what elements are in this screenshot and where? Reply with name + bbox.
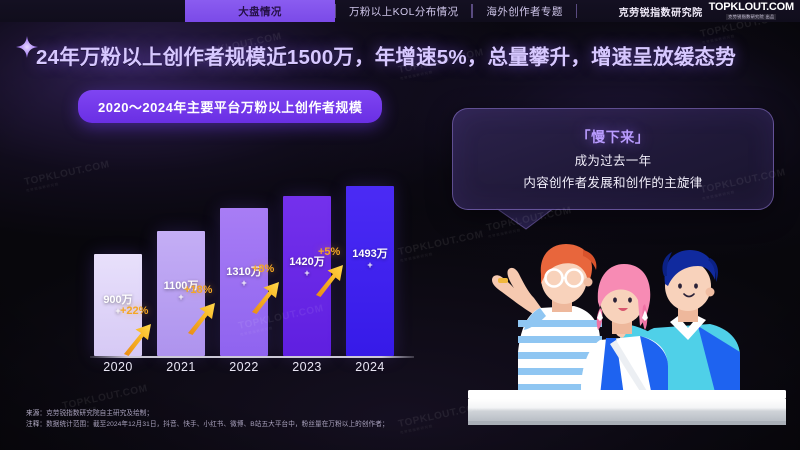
bar-value-2024: 1493万 <box>352 248 387 260</box>
nav-left-spacer <box>0 0 185 22</box>
growth-label-2022: +18% <box>184 284 212 296</box>
bar-2024: 1493万 + <box>346 186 394 356</box>
nav-tab-overseas-creators-label: 海外创作者专题 <box>486 4 562 19</box>
callout-tail <box>496 208 554 230</box>
top-navigation-bar: 大盘情况 万粉以上KOL分布情况 海外创作者专题 克劳锐指数研究院 TOPKLO… <box>0 0 800 22</box>
nav-tab-overview-label: 大盘情况 <box>238 4 282 19</box>
chart-title-pill: 2020～2024年主要平台万粉以上创作者规模 <box>78 90 382 123</box>
x-label-2021: 2021 <box>151 360 211 374</box>
insight-callout-bubble: 「慢下来」 成为过去一年 内容创作者发展和创作的主旋律 <box>452 108 774 210</box>
x-label-2024: 2024 <box>340 360 400 374</box>
brand-name-cn: 克劳锐指数研究院 <box>619 4 703 19</box>
footer-note-line: 注释：数据统计范围：截至2024年12月31日，抖音、快手、小红书、微博、B站五… <box>26 420 389 431</box>
x-label-2023: 2023 <box>277 360 337 374</box>
footer-notes: 来源：克劳锐指数研究院自主研究及绘制； 注释：数据统计范围：截至2024年12月… <box>26 409 389 430</box>
nav-tab-kol-distribution-label: 万粉以上KOL分布情况 <box>349 4 458 19</box>
nav-tab-kol-distribution[interactable]: 万粉以上KOL分布情况 <box>335 0 472 22</box>
bar-suffix-2024: + <box>346 260 394 270</box>
callout-line-2: 内容创作者发展和创作的主旋律 <box>523 172 702 191</box>
bar-column-2024[interactable]: 1493万 + <box>346 186 394 356</box>
bar-chart: 900万 + 1100万 + 1310万 + <box>80 130 420 380</box>
growth-label-2021: +22% <box>120 305 148 317</box>
creators-illustration <box>440 200 800 450</box>
growth-arrow-icon-2024 <box>314 263 344 297</box>
footer-source-text: 克劳锐指数研究院自主研究及绘制； <box>46 410 153 417</box>
brand-domain: TOPKLOUT.COM <box>709 2 794 13</box>
callout-highlight: 「慢下来」 <box>577 127 650 147</box>
watermark-text: TOPKLOUT.COM <box>61 383 148 412</box>
brand-name-en: TOPKLOUT.COM 克劳锐指数研究院 出品 <box>709 2 794 20</box>
footer-note-text: 数据统计范围：截至2024年12月31日，抖音、快手、小红书、微博、B站五大平台… <box>46 421 389 428</box>
chart-x-axis <box>90 356 414 358</box>
growth-label-2024: +5% <box>318 246 340 258</box>
growth-label-2023: +8% <box>252 263 274 275</box>
page-title: 24年万粉以上创作者规模近1500万，年增速5%，总量攀升，增速呈放缓态势 <box>36 40 736 70</box>
slide-canvas: 大盘情况 万粉以上KOL分布情况 海外创作者专题 克劳锐指数研究院 TOPKLO… <box>0 0 800 450</box>
footer-source-label: 来源： <box>26 410 46 417</box>
footer-note-label: 注释： <box>26 421 46 428</box>
sparkle-icon <box>16 36 38 58</box>
brand-domain-sub: 克劳锐指数研究院 出品 <box>726 14 776 20</box>
x-label-2020: 2020 <box>88 360 148 374</box>
growth-arrow-icon-2021 <box>122 322 152 356</box>
callout-line-1: 成为过去一年 <box>575 150 652 169</box>
nav-tab-overseas-creators[interactable]: 海外创作者专题 <box>472 0 576 22</box>
chart-x-tick-labels: 2020 2021 2022 2023 2024 <box>80 360 420 380</box>
x-label-2022: 2022 <box>214 360 274 374</box>
growth-arrow-icon-2023 <box>250 280 280 314</box>
brand-logo: 克劳锐指数研究院 TOPKLOUT.COM 克劳锐指数研究院 出品 <box>619 0 800 22</box>
growth-arrow-icon-2022 <box>186 301 216 335</box>
nav-tab-overview[interactable]: 大盘情况 <box>185 0 335 22</box>
counter-desk <box>468 390 786 425</box>
footer-source-line: 来源：克劳锐指数研究院自主研究及绘制； <box>26 409 389 420</box>
wristwatch <box>498 278 508 283</box>
